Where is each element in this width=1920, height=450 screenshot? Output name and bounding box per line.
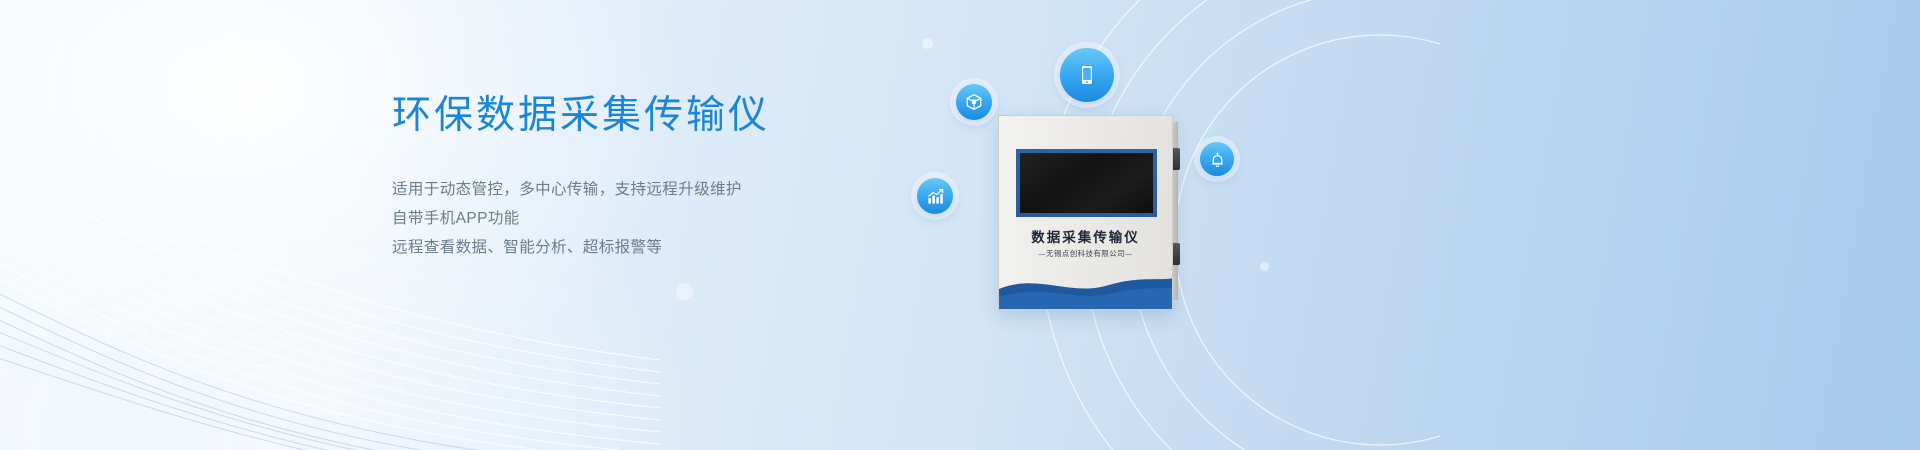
device-wave-decoration (999, 263, 1172, 309)
bar-chart-glyph (926, 187, 945, 206)
banner-subtitle: 适用于动态管控，多中心传输，支持远程升级维护 自带手机APP功能 远程查看数据、… (392, 175, 912, 262)
device-illustration: 数据采集传输仪 —无锡点创科技有限公司— (860, 0, 1460, 450)
alarm-icon[interactable] (1200, 142, 1234, 176)
banner-copy: 环保数据采集传输仪 适用于动态管控，多中心传输，支持远程升级维护 自带手机APP… (392, 92, 912, 262)
device-screen (1020, 153, 1153, 213)
smartphone-glyph (1075, 63, 1099, 87)
package-box-icon[interactable] (956, 84, 992, 120)
device-front-panel: 数据采集传输仪 —无锡点创科技有限公司— (998, 115, 1173, 310)
box-glyph (965, 93, 983, 111)
device-company-label: —无锡点创科技有限公司— (999, 248, 1172, 259)
decorative-dot (676, 283, 693, 300)
subtitle-line-2: 自带手机APP功能 (392, 204, 912, 233)
device-screen-bezel (1016, 149, 1157, 217)
product-banner: 环保数据采集传输仪 适用于动态管控，多中心传输，支持远程升级维护 自带手机APP… (0, 0, 1920, 450)
smartphone-icon[interactable] (1060, 48, 1114, 102)
bar-chart-icon[interactable] (917, 178, 953, 214)
device-panel-title: 数据采集传输仪 (999, 226, 1172, 246)
page-title: 环保数据采集传输仪 (392, 92, 912, 141)
alarm-glyph (1209, 151, 1226, 168)
subtitle-line-1: 适用于动态管控，多中心传输，支持远程升级维护 (392, 175, 912, 204)
subtitle-line-3: 远程查看数据、智能分析、超标报警等 (392, 233, 912, 262)
